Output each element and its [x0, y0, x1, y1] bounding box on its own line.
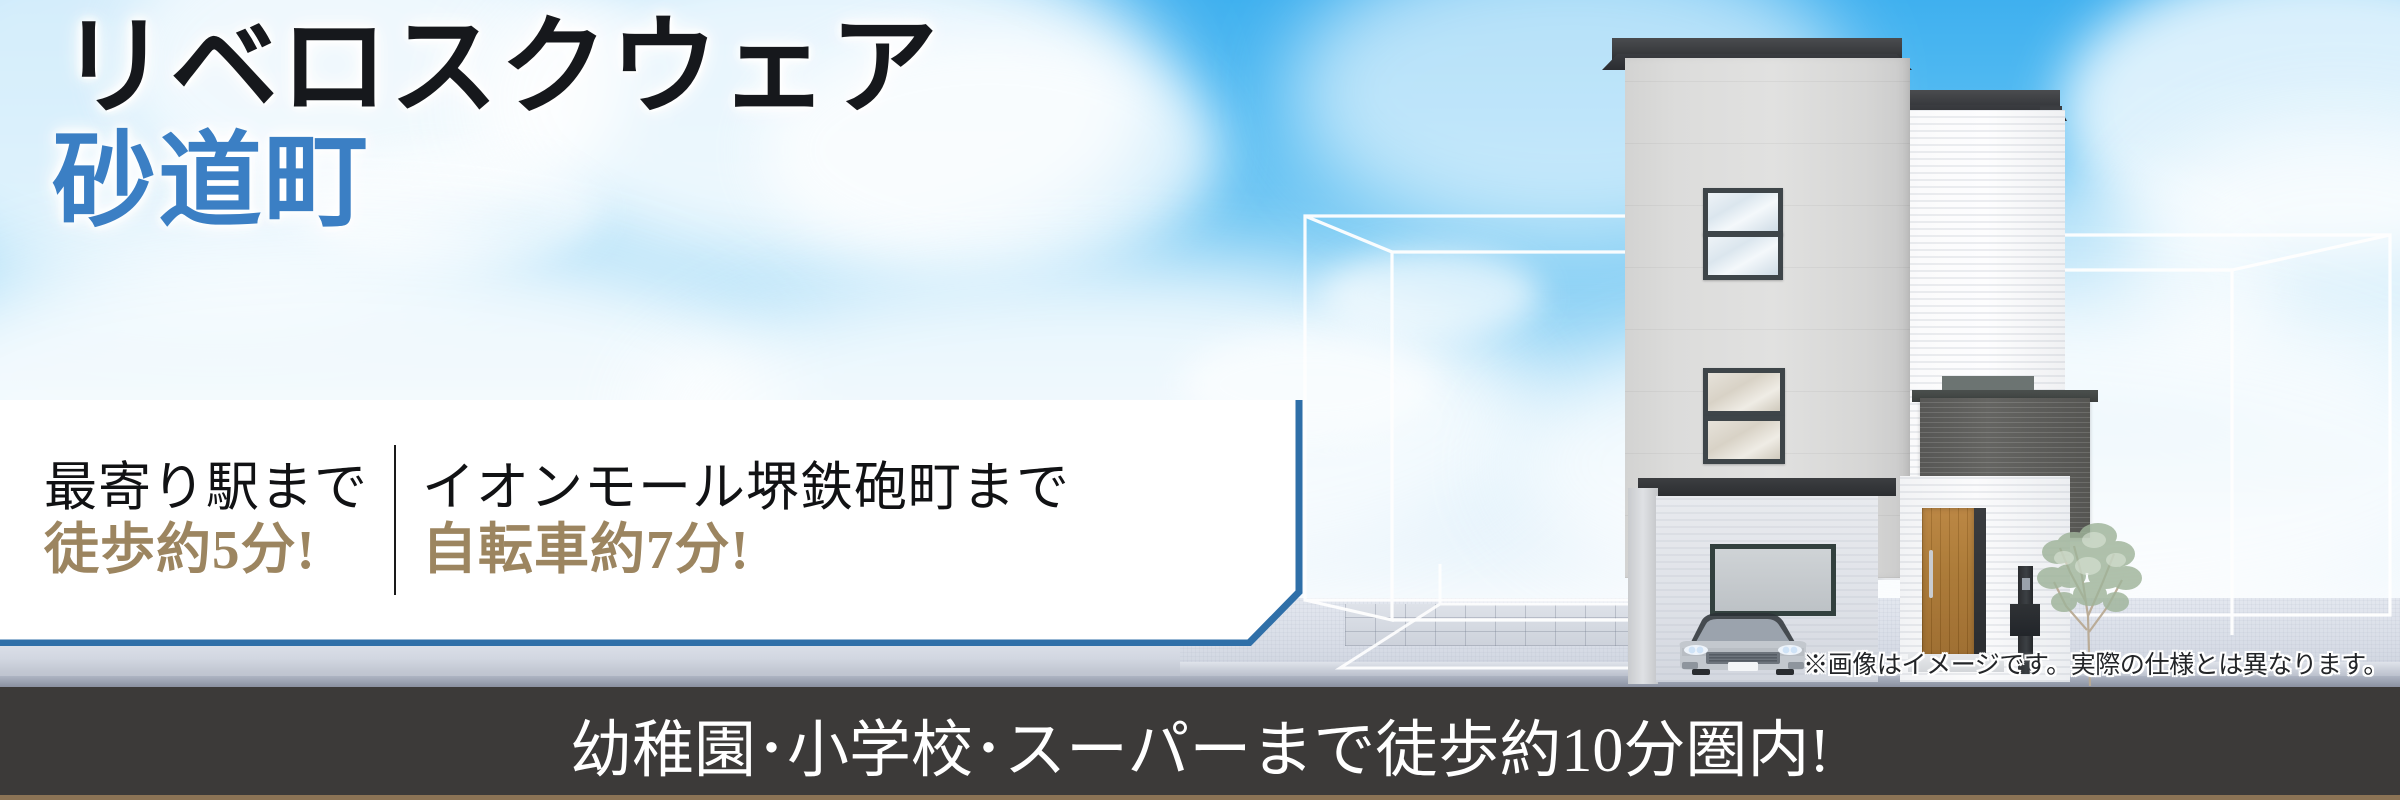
image-disclaimer: ※画像はイメージです。実際の仕様とは異なります。: [1803, 645, 2388, 681]
headline-block: リベロスクウェア 砂道町: [60, 14, 940, 236]
access-label: 最寄り駅まで: [44, 458, 368, 518]
window-upper-2: [1703, 232, 1783, 280]
page-subtitle: 砂道町: [52, 130, 940, 236]
window-mid-1: [1703, 368, 1785, 416]
garage-pillar: [1628, 488, 1658, 684]
access-item-station: 最寄り駅まで 徒歩約5分!: [0, 458, 394, 581]
garage-header: [1638, 478, 1896, 496]
access-label: イオンモール堺鉄砲町まで: [422, 458, 1070, 518]
cloud-shape: [1320, 250, 1540, 340]
house-rendering: [1560, 10, 2120, 680]
bottom-accent-rule: [0, 795, 2400, 800]
access-callout-content: 最寄り駅まで 徒歩約5分! イオンモール堺鉄砲町まで 自転車約7分!: [0, 400, 1300, 640]
property-banner: リベロスクウェア 砂道町 最寄り駅まで 徒歩約5分! イオンモール堺鉄砲町まで …: [0, 0, 2400, 800]
bottom-banner-bar: 幼稚園･小学校･スーパーまで徒歩約10分圏内!: [0, 687, 2400, 800]
parked-car: [1672, 598, 1814, 676]
window-mid-2: [1703, 416, 1785, 464]
door-handle: [1929, 550, 1933, 598]
door-side-panel: [1974, 508, 1986, 656]
access-item-mall: イオンモール堺鉄砲町まで 自転車約7分!: [396, 458, 1096, 581]
bottom-banner-text: 幼稚園･小学校･スーパーまで徒歩約10分圏内!: [570, 699, 1830, 789]
access-value: 徒歩約5分!: [44, 519, 368, 582]
access-value: 自転車約7分!: [422, 519, 1070, 582]
intercom-panel: [2022, 578, 2030, 590]
window-upper-1: [1703, 188, 1783, 236]
page-title: リベロスクウェア: [60, 14, 940, 124]
